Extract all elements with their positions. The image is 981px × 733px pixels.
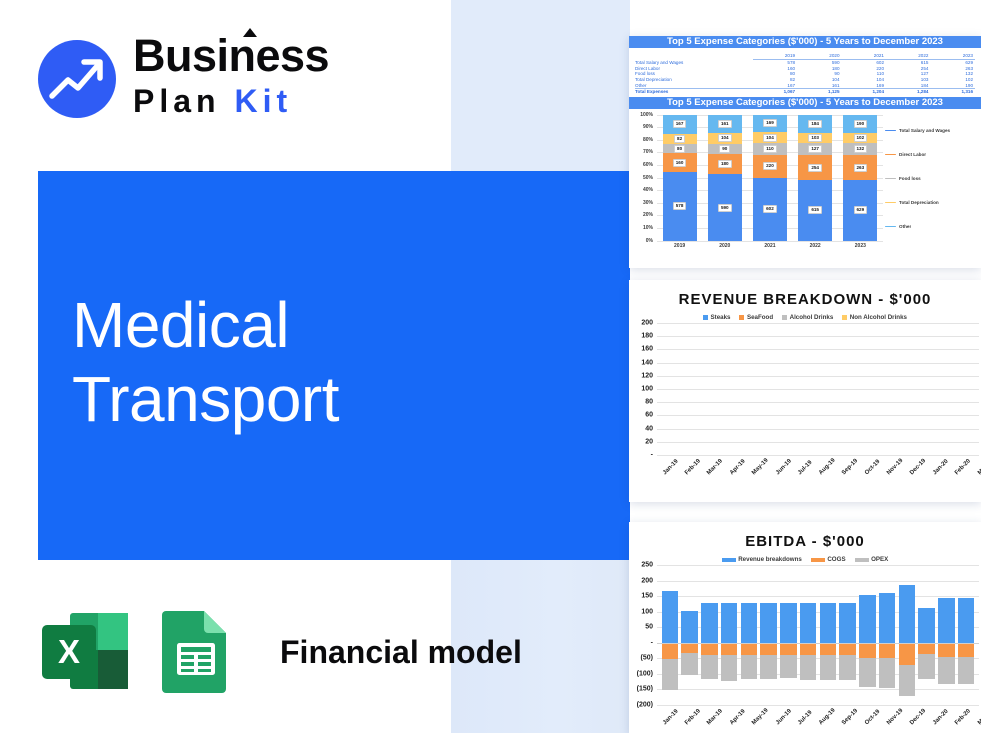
x-tick: Aug-19	[818, 458, 837, 477]
y-tick: 100	[641, 386, 653, 393]
x-tick: Mar-20	[977, 458, 981, 476]
svg-text:X: X	[58, 633, 80, 670]
x-tick: Apr-19	[729, 459, 747, 477]
y-tick: 50%	[643, 175, 653, 181]
legend-swatch	[842, 315, 847, 320]
ebitda-chart-legend: Revenue breakdownsCOGSOPEX	[629, 556, 981, 563]
ebitda-chart-plot	[657, 565, 979, 705]
stacked-bar	[741, 565, 758, 705]
y-tick: -	[651, 639, 653, 646]
legend-label: SeaFood	[747, 314, 773, 321]
legend-item: Other	[885, 215, 977, 239]
stacked-bar	[681, 565, 698, 705]
x-tick: Oct-19	[864, 459, 881, 476]
ebitda-chart-x-axis: Jan-19Feb-19Mar-19Apr-19May-19Jun-19Jul-…	[657, 722, 979, 728]
legend-swatch	[739, 315, 744, 320]
page-title-line1: Medical	[72, 288, 592, 362]
x-tick: 2022	[798, 243, 832, 259]
revenue-chart-plot	[657, 323, 979, 455]
brand-name-line1: Business	[133, 31, 368, 81]
y-tick: 120	[641, 372, 653, 379]
legend-label: Direct Labor	[899, 152, 926, 157]
ebitda-chart-y-axis: 25020015010050-(50)(100)(150)(200)	[629, 565, 655, 705]
legend-item: Revenue breakdowns	[722, 556, 802, 563]
legend-item: Steaks	[703, 314, 730, 321]
x-tick: Jul-19	[797, 710, 814, 727]
legend-label: OPEX	[871, 556, 888, 563]
legend-label: Other	[899, 224, 911, 229]
x-tick: Nov-19	[886, 708, 904, 726]
y-tick: 20%	[643, 212, 653, 218]
stacked-bar	[780, 565, 797, 705]
y-tick: 0%	[646, 238, 653, 244]
expense-chart-plot: 1678280160578161104901805901691041102206…	[657, 115, 883, 241]
y-tick: (150)	[637, 686, 653, 693]
legend-item: SeaFood	[739, 314, 773, 321]
y-tick: 100	[641, 608, 653, 615]
x-tick: Feb-19	[684, 708, 702, 726]
legend-label: Total Depreciation	[899, 200, 939, 205]
stacked-bar: 16110490180590	[708, 115, 742, 241]
legend-label: Alcohol Drinks	[790, 314, 834, 321]
brand-logo: Business Plan Kit	[38, 31, 368, 125]
y-tick: 160	[641, 346, 653, 353]
x-tick: Jul-19	[797, 460, 814, 477]
stacked-bar	[839, 565, 856, 705]
y-tick: 250	[641, 562, 653, 569]
legend-swatch	[885, 154, 896, 156]
expense-stacked-chart: 100%90%80%70%60%50%40%30%20%10%0% 167828…	[629, 109, 981, 263]
stacked-bar	[820, 565, 837, 705]
format-icons-row: X Financial model	[40, 611, 522, 693]
legend-item: Total Depreciation	[885, 191, 977, 215]
growth-arrow-icon	[38, 40, 116, 118]
circumflex-accent-icon	[243, 28, 257, 37]
x-tick: Jun-19	[775, 708, 793, 726]
y-tick: 100%	[640, 112, 653, 118]
financial-model-label: Financial model	[280, 634, 522, 671]
stacked-bar	[662, 565, 679, 705]
stacked-bar	[859, 565, 876, 705]
microsoft-excel-icon: X	[40, 611, 132, 693]
legend-label: COGS	[827, 556, 845, 563]
ebitda-card: EBITDA - $'000 Revenue breakdownsCOGSOPE…	[629, 522, 981, 733]
revenue-chart-legend: SteaksSeaFoodAlcohol DrinksNon Alcohol D…	[629, 314, 981, 321]
revenue-chart-y-axis: 20018016014012010080604020-	[629, 323, 655, 455]
stacked-bar: 190102132263629	[843, 115, 877, 241]
revenue-chart-x-axis: Jan-19Feb-19Mar-19Apr-19May-19Jun-19Jul-…	[657, 472, 979, 478]
y-tick: 40%	[643, 187, 653, 193]
y-tick: 20	[645, 438, 653, 445]
expense-chart-legend: Total Salary and WagesDirect LaborFood l…	[885, 119, 977, 239]
legend-item: Alcohol Drinks	[782, 314, 833, 321]
legend-swatch	[811, 558, 825, 562]
x-tick: 2023	[843, 243, 877, 259]
legend-swatch	[855, 558, 869, 562]
brand-name-kit: Kit	[234, 83, 292, 119]
legend-item: Total Salary and Wages	[885, 119, 977, 143]
y-tick: 10%	[643, 225, 653, 231]
expense-table: 20192020202120222023Total Salary and Wag…	[629, 48, 981, 97]
y-tick: 60	[645, 412, 653, 419]
stacked-bar	[879, 565, 896, 705]
y-tick: -	[651, 452, 653, 459]
stacked-bar	[800, 565, 817, 705]
table-row-total: Total Expenses1,0671,1251,2041,2841,316	[635, 88, 975, 94]
y-tick: 90%	[643, 124, 653, 130]
stacked-bar: 1678280160578	[663, 115, 697, 241]
legend-label: Steaks	[711, 314, 731, 321]
legend-item: OPEX	[855, 556, 889, 563]
y-tick: (200)	[637, 702, 653, 709]
x-tick: Apr-19	[729, 709, 747, 727]
x-tick: Dec-19	[909, 458, 927, 476]
y-tick: 140	[641, 359, 653, 366]
x-tick: Jan-19	[662, 459, 680, 477]
y-tick: 80%	[643, 137, 653, 143]
page-title-line2: Transport	[72, 362, 592, 436]
stacked-bar	[918, 565, 935, 705]
legend-swatch	[703, 315, 708, 320]
stacked-bar	[938, 565, 955, 705]
x-tick: Sep-19	[841, 458, 859, 476]
y-tick: 80	[645, 399, 653, 406]
x-tick: Feb-19	[684, 458, 702, 476]
x-tick: Jun-19	[775, 458, 793, 476]
legend-label: Total Salary and Wages	[899, 128, 950, 133]
y-tick: 180	[641, 333, 653, 340]
x-tick: Nov-19	[886, 458, 904, 476]
brand-name-line2: Plan Kit	[133, 81, 368, 121]
legend-item: COGS	[811, 556, 846, 563]
x-tick: Feb-20	[954, 708, 972, 726]
google-sheets-icon	[156, 611, 248, 693]
y-tick: 150	[641, 593, 653, 600]
y-tick: 30%	[643, 200, 653, 206]
expense-chart-x-axis: 20192020202120222023	[657, 243, 883, 259]
y-tick: 40	[645, 425, 653, 432]
x-tick: Feb-20	[954, 458, 972, 476]
revenue-chart-title: REVENUE BREAKDOWN - $'000	[629, 291, 981, 308]
expense-chart-y-axis: 100%90%80%70%60%50%40%30%20%10%0%	[629, 115, 655, 241]
expense-categories-card: Top 5 Expense Categories ($'000) - 5 Yea…	[629, 36, 981, 268]
y-tick: (50)	[641, 655, 653, 662]
x-tick: Oct-19	[864, 709, 881, 726]
legend-swatch	[885, 202, 896, 204]
x-tick: Mar-19	[706, 458, 724, 476]
stacked-bar	[760, 565, 777, 705]
legend-swatch	[885, 178, 896, 180]
x-tick: Aug-19	[818, 708, 837, 727]
legend-swatch	[722, 558, 736, 562]
y-tick: 50	[645, 624, 653, 631]
revenue-chart-area: 20018016014012010080604020-	[629, 323, 981, 455]
legend-swatch	[885, 130, 896, 132]
ebitda-chart-title: EBITDA - $'000	[629, 533, 981, 550]
slide-canvas: Business Plan Kit Medical Transport X	[0, 0, 981, 733]
x-tick: Jan-20	[932, 709, 950, 727]
legend-label: Food loss	[899, 176, 921, 181]
x-tick: Jan-20	[932, 459, 950, 477]
legend-swatch	[885, 226, 896, 228]
legend-item: Non Alcohol Drinks	[842, 314, 907, 321]
x-tick: 2019	[663, 243, 697, 259]
legend-item: Direct Labor	[885, 143, 977, 167]
background-panel-top	[451, 0, 630, 171]
x-tick: May-19	[751, 708, 770, 727]
stacked-bar	[958, 565, 975, 705]
x-tick: 2021	[753, 243, 787, 259]
stacked-bar	[899, 565, 916, 705]
stacked-bar	[721, 565, 738, 705]
y-tick: 60%	[643, 162, 653, 168]
y-tick: (100)	[637, 670, 653, 677]
stacked-bar: 184103127254615	[798, 115, 832, 241]
expense-table-header: Top 5 Expense Categories ($'000) - 5 Yea…	[629, 36, 981, 48]
revenue-breakdown-card: REVENUE BREAKDOWN - $'000 SteaksSeaFoodA…	[629, 280, 981, 502]
x-tick: Jan-19	[662, 709, 680, 727]
x-tick: Dec-19	[909, 708, 927, 726]
ebitda-chart-area: 25020015010050-(50)(100)(150)(200)	[629, 565, 981, 705]
stacked-bar	[701, 565, 718, 705]
page-title: Medical Transport	[72, 288, 592, 436]
x-tick: Sep-19	[841, 708, 859, 726]
y-tick: 200	[641, 577, 653, 584]
x-tick: 2020	[708, 243, 742, 259]
legend-label: Non Alcohol Drinks	[850, 314, 907, 321]
stacked-bar: 169104110220602	[753, 115, 787, 241]
legend-swatch	[782, 315, 787, 320]
x-tick: May-19	[751, 458, 770, 477]
y-tick: 200	[641, 320, 653, 327]
legend-label: Revenue breakdowns	[738, 556, 802, 563]
expense-chart-header: Top 5 Expense Categories ($'000) - 5 Yea…	[629, 97, 981, 109]
y-tick: 70%	[643, 149, 653, 155]
legend-item: Food loss	[885, 167, 977, 191]
x-tick: Mar-19	[706, 708, 724, 726]
x-tick: Mar-20	[977, 708, 981, 726]
